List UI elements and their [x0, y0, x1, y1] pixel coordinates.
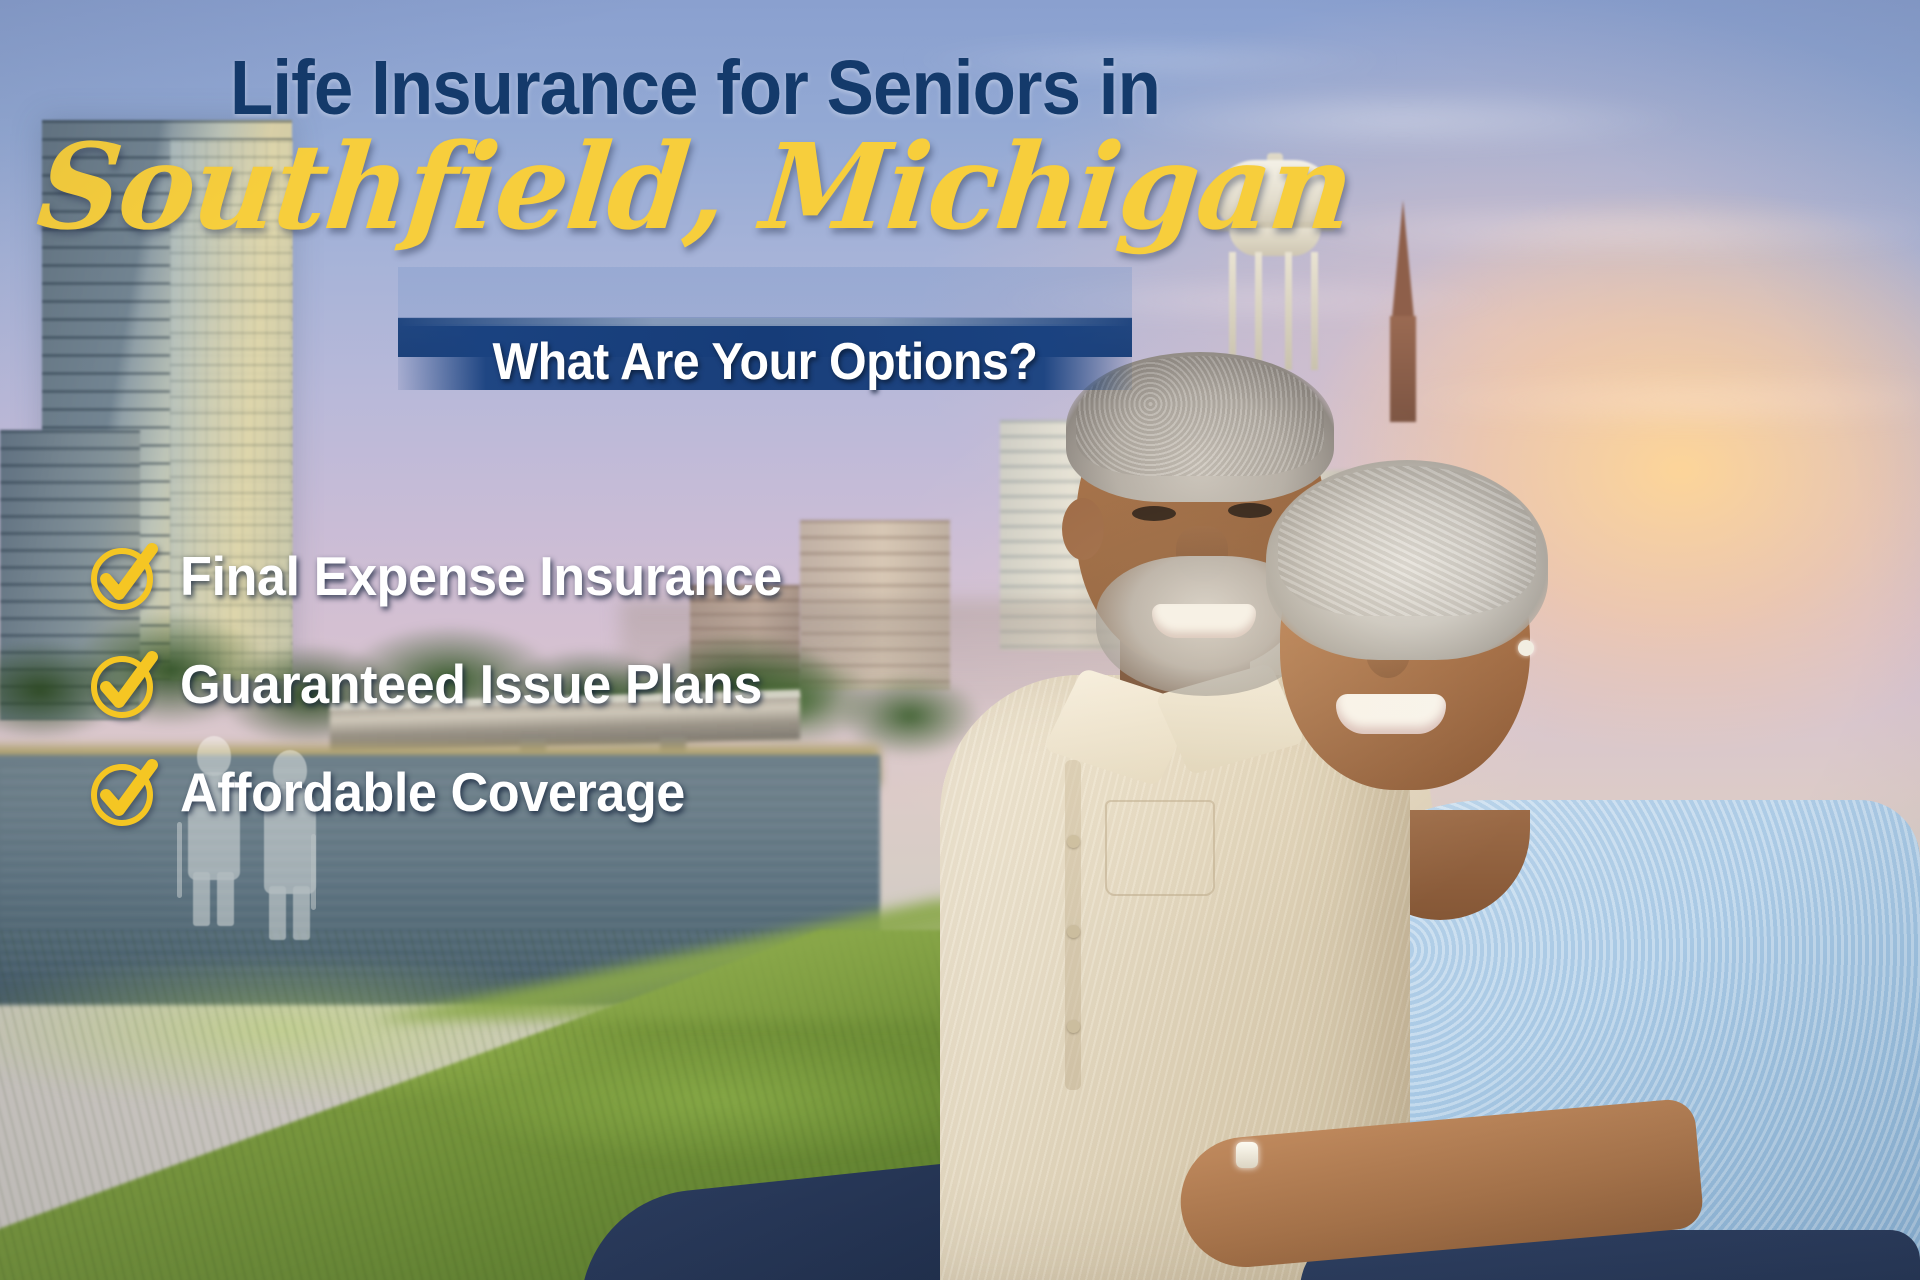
check-circle-icon: [86, 754, 162, 830]
subheadline-band-glow: [398, 318, 1132, 326]
banner-content: Life Insurance for Seniors in Southfield…: [0, 0, 1920, 1280]
subheadline: What Are Your Options?: [424, 336, 1107, 388]
list-item-label: Guaranteed Issue Plans: [180, 652, 762, 716]
list-item: Final Expense Insurance: [86, 522, 846, 630]
marketing-banner: Life Insurance for Seniors in Southfield…: [0, 0, 1920, 1280]
list-item: Affordable Coverage: [86, 738, 846, 846]
location-script-title: Southfield, Michigan: [15, 128, 1375, 246]
list-item: Guaranteed Issue Plans: [86, 630, 846, 738]
benefits-list: Final Expense Insurance Guaranteed Issue…: [86, 522, 846, 846]
check-circle-icon: [86, 538, 162, 614]
list-item-label: Affordable Coverage: [180, 760, 685, 824]
list-item-label: Final Expense Insurance: [180, 544, 782, 608]
check-circle-icon: [86, 646, 162, 722]
